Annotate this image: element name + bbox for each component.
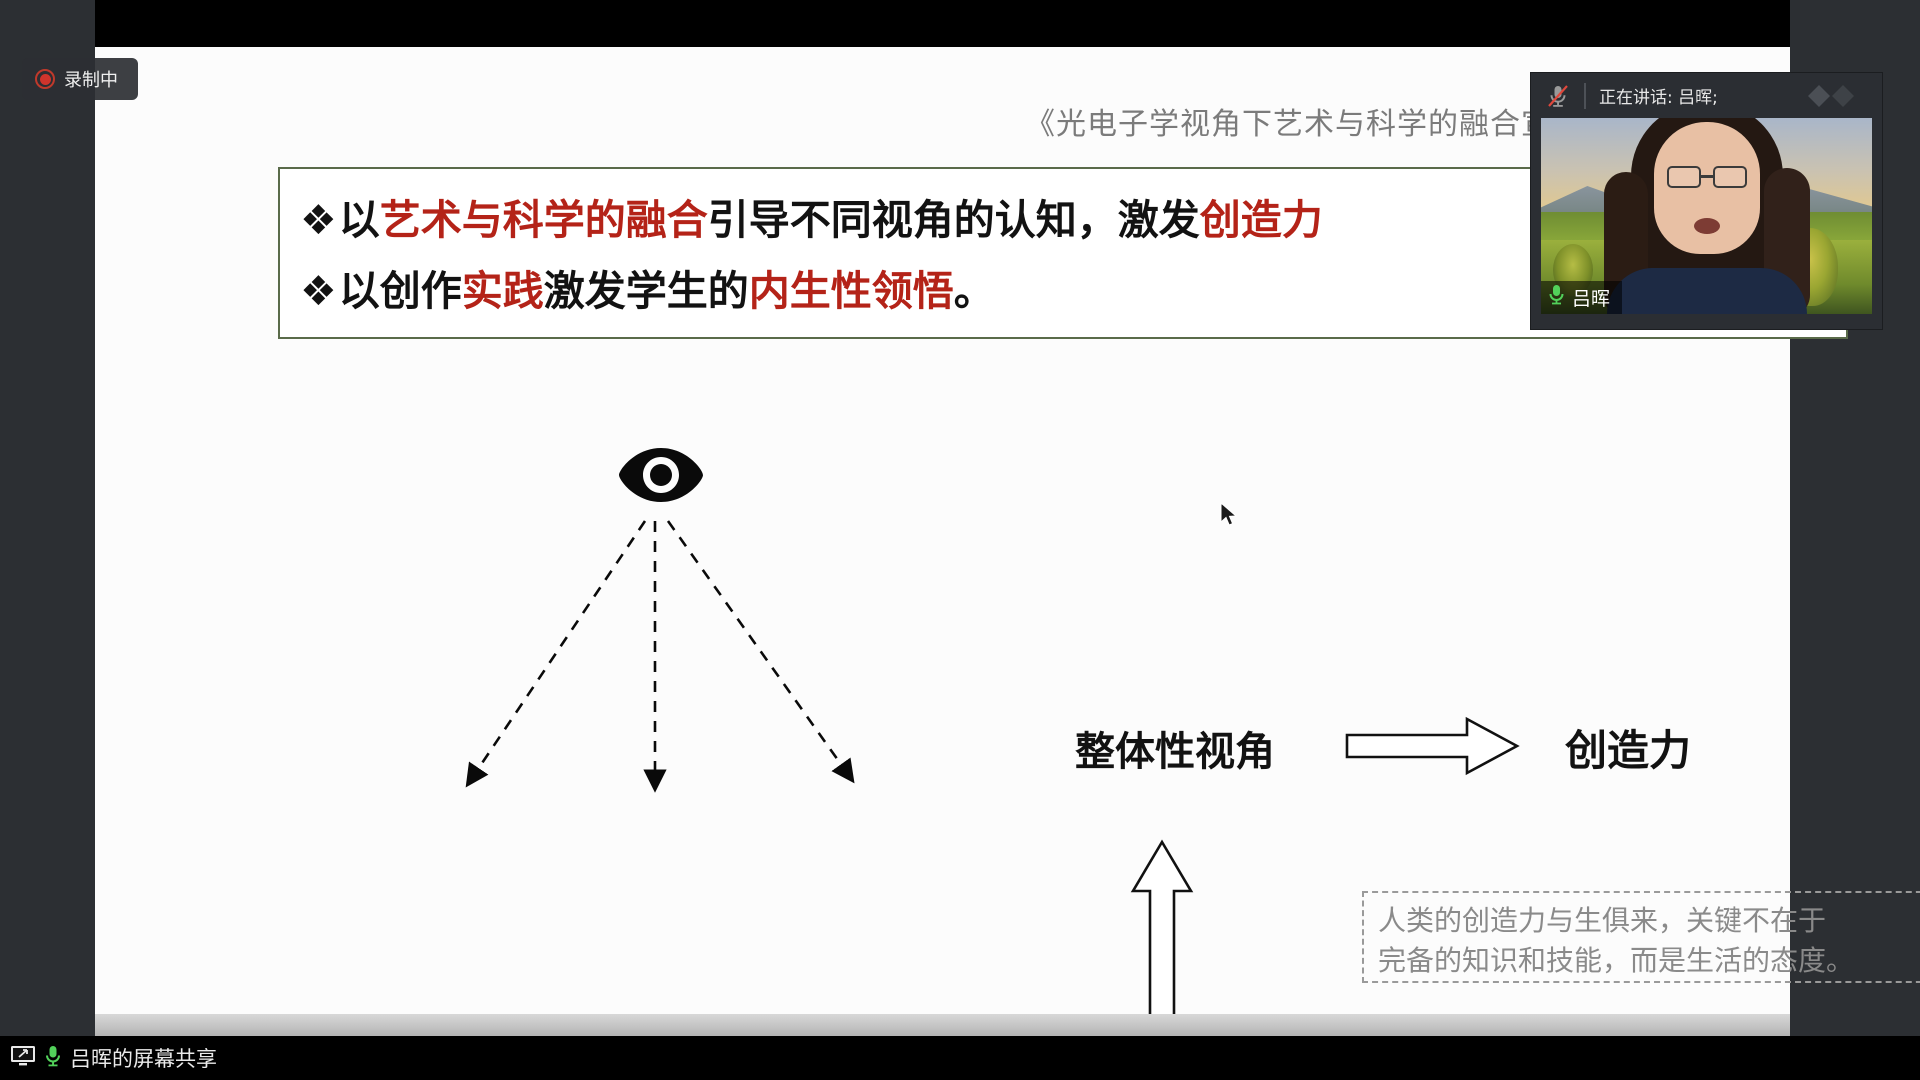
creativity-label: 创造力 (1565, 717, 1691, 778)
participant-video-tile[interactable]: 吕晖 (1541, 118, 1872, 314)
bullet-1-seg-3: 引导不同视角的认知，激发 (708, 196, 1200, 244)
taskbar-microphone-icon[interactable] (44, 1044, 62, 1073)
meeting-screen-share-view: 《光电子学视角下艺术与科学的融合宣战》 ❖以艺术与科学的融合引导不同视角的认知，… (0, 0, 1920, 1080)
participant-name-chip: 吕晖 (1541, 281, 1622, 314)
bullet-1-seg-2: 艺术与科学的融合 (380, 196, 708, 244)
creativity-quote-box: 人类的创造力与生俱来，关键不在于 完备的知识和技能，而是生活的态度。 (1362, 891, 1920, 983)
active-speaker-label: 正在讲话: 吕晖; (1599, 83, 1718, 108)
header-divider (1584, 83, 1586, 109)
bullet-2-seg-4: 内生性领悟 (749, 267, 954, 315)
bullet-2-seg-1: 以创作 (339, 267, 462, 315)
bullet-1-seg-1: 以 (339, 196, 380, 244)
left-rail (0, 0, 95, 1036)
creativity-quote-line-1: 人类的创造力与生俱来，关键不在于 (1378, 901, 1920, 941)
taskbar[interactable]: 吕晖的屏幕共享 (0, 1036, 1920, 1080)
dashed-ray-arrows (440, 489, 870, 824)
record-icon (35, 69, 55, 89)
recording-label: 录制中 (64, 66, 118, 92)
microphone-muted-icon[interactable] (1545, 83, 1571, 109)
bullet-2-seg-5: 。 (954, 267, 995, 315)
arrow-up-outline-icon (1130, 839, 1194, 1039)
bullet-1-seg-4: 创造力 (1200, 196, 1323, 244)
slide-bottom-edge (95, 1014, 1790, 1036)
recording-badge[interactable]: 录制中 (22, 58, 138, 100)
microphone-icon (1548, 284, 1565, 311)
creativity-quote-line-2: 完备的知识和技能，而是生活的态度。 (1378, 941, 1920, 981)
video-panel-header: 正在讲话: 吕晖; (1531, 73, 1882, 118)
holistic-perspective-label: 整体性视角 (1075, 719, 1275, 777)
participant-name-label: 吕晖 (1572, 284, 1610, 311)
bullet-2-seg-3: 激发学生的 (544, 267, 749, 315)
participant-avatar (1602, 118, 1812, 314)
active-speaker-video-panel[interactable]: 正在讲话: 吕晖; (1531, 73, 1882, 329)
bullet-marker-icon: ❖ (300, 196, 337, 244)
zoom-logo-icon (1806, 84, 1870, 113)
bullet-2-seg-2: 实践 (462, 267, 544, 315)
mouse-cursor (1220, 502, 1238, 528)
screen-share-status-label: 吕晖的屏幕共享 (70, 1043, 217, 1073)
bullet-marker-icon-2: ❖ (300, 267, 337, 315)
arrow-right-outline-icon (1345, 715, 1520, 782)
slide-diagram: 科学 艺术 整体性视角 创造力 认知 “逻辑” 本身 (190, 339, 1885, 1069)
screen-share-icon[interactable] (10, 1045, 36, 1072)
